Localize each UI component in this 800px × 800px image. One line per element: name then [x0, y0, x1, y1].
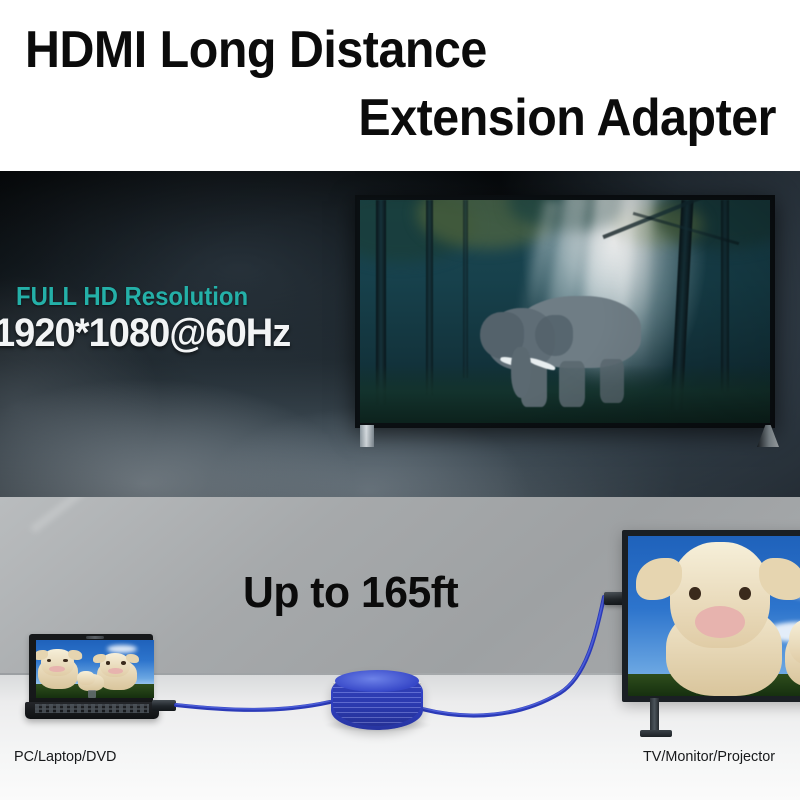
page-title-line-1: HDMI Long Distance [25, 24, 487, 76]
cow-eye [121, 661, 126, 664]
full-hd-panel: FULL HD Resolution 1920*1080@60Hz [0, 171, 800, 497]
sink-device-label: TV/Monitor/Projector [643, 748, 775, 765]
cow-eye [63, 659, 68, 662]
television-frame [622, 530, 800, 702]
distance-headline: Up to 165ft [243, 568, 458, 618]
product-infographic: HDMI Long Distance Extension Adapter [0, 0, 800, 800]
full-hd-subtitle: FULL HD Resolution [16, 281, 329, 312]
cow-ear [93, 654, 106, 663]
cow-ear [126, 654, 139, 663]
laptop-keyboard [35, 704, 149, 713]
header-banner: HDMI Long Distance Extension Adapter [0, 0, 800, 171]
laptop-webcam [86, 636, 104, 639]
cable-coil [331, 672, 423, 730]
cow-eye [106, 661, 111, 664]
calf-head [77, 671, 95, 685]
sink-television [622, 530, 800, 708]
hdmi-plug-source [152, 700, 176, 711]
cow-eye [689, 587, 701, 600]
page-title-line-2: Extension Adapter [358, 92, 776, 144]
source-laptop [25, 634, 159, 720]
television-foot [640, 730, 672, 737]
laptop-logo [88, 690, 96, 698]
cow-eye [739, 587, 751, 600]
cloud [107, 645, 138, 653]
resolution-value: 1920*1080@60Hz [0, 311, 355, 356]
television-stand [650, 698, 659, 734]
cable-coil-top [335, 670, 419, 692]
wall-light-streak [30, 497, 185, 533]
source-device-label: PC/Laptop/DVD [14, 748, 116, 765]
television-screen [628, 536, 800, 696]
hd-text-overlay: FULL HD Resolution 1920*1080@60Hz [0, 171, 360, 497]
